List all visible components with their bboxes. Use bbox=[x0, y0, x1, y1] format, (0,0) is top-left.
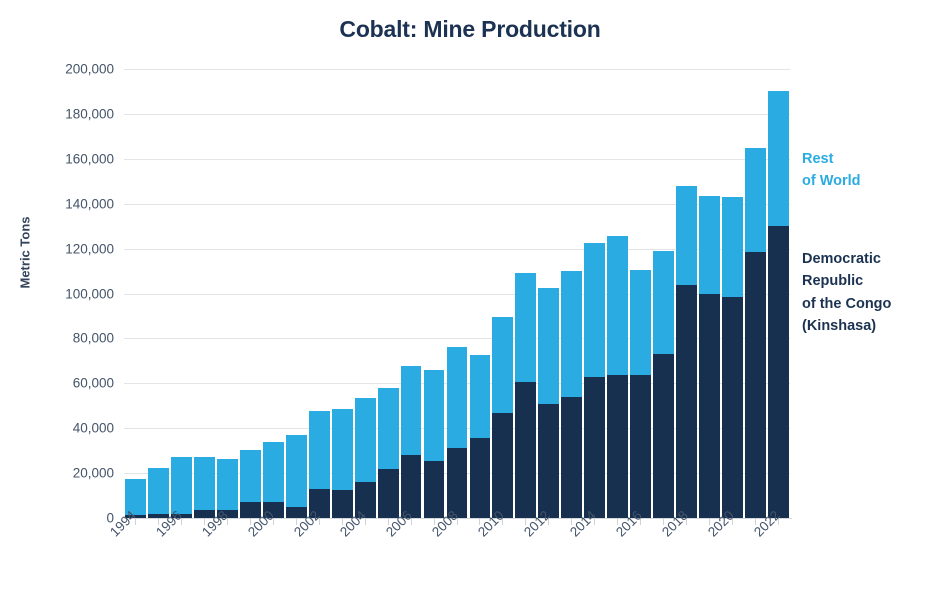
bar-segment-drc[interactable] bbox=[745, 252, 766, 518]
bar-segment-drc[interactable] bbox=[515, 382, 536, 518]
bar-segment-drc[interactable] bbox=[699, 294, 720, 519]
bar-segment-rest-of-world[interactable] bbox=[630, 270, 651, 376]
legend-rest-of-world-line1: Rest bbox=[802, 148, 861, 170]
bar-group[interactable] bbox=[676, 186, 697, 518]
bar-segment-rest-of-world[interactable] bbox=[263, 442, 284, 502]
bar-segment-drc[interactable] bbox=[676, 285, 697, 518]
bar-group[interactable] bbox=[584, 243, 605, 518]
bar-segment-rest-of-world[interactable] bbox=[217, 459, 238, 510]
bar-group[interactable] bbox=[607, 236, 628, 518]
bar-segment-rest-of-world[interactable] bbox=[240, 450, 261, 502]
legend-drc-line2: Republic bbox=[802, 270, 891, 292]
y-axis-tick-label: 160,000 bbox=[4, 151, 114, 166]
y-axis-tick-label: 60,000 bbox=[4, 376, 114, 391]
bar-group[interactable] bbox=[309, 411, 330, 518]
bar-group[interactable] bbox=[470, 355, 491, 518]
bar-segment-rest-of-world[interactable] bbox=[768, 91, 789, 226]
legend-rest-of-world: Rest of World bbox=[802, 148, 861, 193]
y-axis-tick-label: 0 bbox=[4, 511, 114, 526]
bar-segment-rest-of-world[interactable] bbox=[171, 457, 192, 514]
plot-area bbox=[124, 69, 790, 518]
bar-group[interactable] bbox=[424, 370, 445, 518]
bar-segment-drc[interactable] bbox=[492, 413, 513, 519]
bar-segment-rest-of-world[interactable] bbox=[148, 468, 169, 515]
bar-segment-rest-of-world[interactable] bbox=[424, 370, 445, 461]
bar-group[interactable] bbox=[699, 196, 720, 518]
bar-segment-drc[interactable] bbox=[630, 375, 651, 518]
bar-segment-rest-of-world[interactable] bbox=[492, 317, 513, 412]
legend-drc-line4: (Kinshasa) bbox=[802, 315, 891, 337]
bar-segment-drc[interactable] bbox=[470, 438, 491, 518]
bar-segment-rest-of-world[interactable] bbox=[607, 236, 628, 375]
bar-segment-rest-of-world[interactable] bbox=[309, 411, 330, 489]
bars-layer bbox=[124, 69, 790, 518]
bar-segment-drc[interactable] bbox=[424, 461, 445, 518]
y-axis-tick-label: 200,000 bbox=[4, 62, 114, 77]
bar-segment-rest-of-world[interactable] bbox=[653, 251, 674, 354]
legend-rest-of-world-line2: of World bbox=[802, 170, 861, 192]
bar-group[interactable] bbox=[561, 271, 582, 518]
page-title: Cobalt: Mine Production bbox=[0, 16, 940, 43]
y-axis-tick-label: 100,000 bbox=[4, 286, 114, 301]
y-axis-tick-label: 80,000 bbox=[4, 331, 114, 346]
bar-group[interactable] bbox=[401, 366, 422, 518]
bar-group[interactable] bbox=[378, 388, 399, 518]
y-axis-tick-label: 120,000 bbox=[4, 241, 114, 256]
bar-segment-drc[interactable] bbox=[768, 226, 789, 518]
legend-drc-line3: of the Congo bbox=[802, 293, 891, 315]
bar-segment-rest-of-world[interactable] bbox=[355, 398, 376, 482]
bar-segment-rest-of-world[interactable] bbox=[332, 409, 353, 490]
bar-segment-drc[interactable] bbox=[538, 404, 559, 518]
bar-segment-rest-of-world[interactable] bbox=[447, 347, 468, 448]
y-axis-tick-label: 40,000 bbox=[4, 421, 114, 436]
legend-drc: Democratic Republic of the Congo (Kinsha… bbox=[802, 248, 891, 338]
bar-segment-rest-of-world[interactable] bbox=[584, 243, 605, 377]
bar-group[interactable] bbox=[332, 409, 353, 518]
bar-segment-drc[interactable] bbox=[561, 397, 582, 518]
bar-group[interactable] bbox=[538, 288, 559, 518]
bar-group[interactable] bbox=[630, 270, 651, 518]
bar-segment-rest-of-world[interactable] bbox=[401, 366, 422, 455]
bar-segment-rest-of-world[interactable] bbox=[745, 148, 766, 252]
bar-segment-rest-of-world[interactable] bbox=[515, 273, 536, 382]
bar-group[interactable] bbox=[240, 450, 261, 518]
bar-segment-drc[interactable] bbox=[607, 375, 628, 518]
bar-group[interactable] bbox=[653, 251, 674, 518]
bar-group[interactable] bbox=[286, 435, 307, 518]
bar-segment-drc[interactable] bbox=[378, 469, 399, 518]
bar-group[interactable] bbox=[492, 317, 513, 518]
bar-group[interactable] bbox=[722, 197, 743, 518]
bar-group[interactable] bbox=[745, 148, 766, 518]
bar-group[interactable] bbox=[447, 347, 468, 518]
bar-segment-rest-of-world[interactable] bbox=[378, 388, 399, 469]
bar-group[interactable] bbox=[355, 398, 376, 518]
bar-segment-rest-of-world[interactable] bbox=[470, 355, 491, 438]
bar-group[interactable] bbox=[768, 91, 789, 518]
bar-segment-drc[interactable] bbox=[653, 354, 674, 518]
bar-segment-drc[interactable] bbox=[584, 377, 605, 518]
y-axis-tick-label: 20,000 bbox=[4, 466, 114, 481]
bar-group[interactable] bbox=[515, 273, 536, 518]
bar-segment-rest-of-world[interactable] bbox=[699, 196, 720, 294]
bar-group[interactable] bbox=[194, 457, 215, 518]
bar-segment-drc[interactable] bbox=[722, 297, 743, 518]
bar-segment-rest-of-world[interactable] bbox=[538, 288, 559, 404]
bar-segment-rest-of-world[interactable] bbox=[561, 271, 582, 397]
bar-segment-rest-of-world[interactable] bbox=[676, 186, 697, 285]
bar-segment-rest-of-world[interactable] bbox=[286, 435, 307, 507]
bar-group[interactable] bbox=[148, 468, 169, 519]
chart-page: Cobalt: Mine Production Metric Tons 200,… bbox=[0, 0, 940, 600]
legend-drc-line1: Democratic bbox=[802, 248, 891, 270]
y-axis-tick-label: 140,000 bbox=[4, 196, 114, 211]
y-axis-tick-labels: 200,000180,000160,000140,000120,000100,0… bbox=[0, 69, 114, 518]
bar-segment-rest-of-world[interactable] bbox=[722, 197, 743, 297]
bar-segment-rest-of-world[interactable] bbox=[194, 457, 215, 510]
bar-segment-drc[interactable] bbox=[332, 490, 353, 518]
y-axis-tick-label: 180,000 bbox=[4, 106, 114, 121]
